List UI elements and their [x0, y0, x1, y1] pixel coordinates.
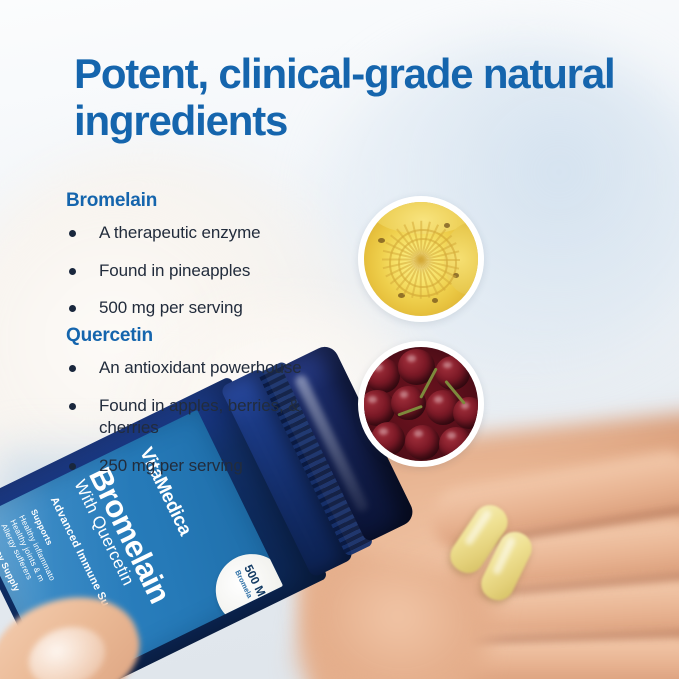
pineapple-eye — [432, 298, 438, 303]
list-item-label: 500 mg per serving — [99, 298, 243, 317]
page-title: Potent, clinical-grade natural ingredien… — [74, 50, 634, 144]
cherry-photo-circle — [358, 341, 484, 467]
cherry-fruit — [453, 397, 484, 429]
cherry-fruit — [435, 356, 470, 390]
pineapple-spoke — [420, 260, 422, 299]
cherry-fruit — [405, 425, 440, 460]
list-item-label: Found in pineapples — [99, 261, 250, 280]
section-title-quercetin: Quercetin — [66, 325, 153, 347]
list-item-label: A therapeutic enzyme — [99, 223, 260, 242]
list-item: Found in apples, berries, & cherries — [66, 395, 314, 440]
pineapple-image — [364, 202, 478, 316]
quercetin-benefit-list: An antioxidant powerhouse Found in apple… — [66, 357, 314, 492]
bullet-dot-icon — [69, 463, 76, 470]
cherry-fruit — [371, 422, 405, 456]
bromelain-benefit-list: A therapeutic enzyme Found in pineapples… — [66, 222, 260, 335]
list-item: An antioxidant powerhouse — [66, 357, 314, 380]
list-item: Found in pineapples — [66, 260, 260, 283]
cherry-fruit — [359, 390, 394, 425]
list-item-label: 250 mg per serving — [99, 456, 243, 475]
bullet-dot-icon — [69, 305, 76, 312]
product-infographic: VitaMedica Bromelain With Quercetin Adva… — [0, 0, 679, 679]
section-title-bromelain: Bromelain — [66, 190, 157, 212]
bullet-dot-icon — [69, 268, 76, 275]
cherry-fruit — [391, 386, 425, 420]
list-item: A therapeutic enzyme — [66, 222, 260, 245]
list-item: 500 mg per serving — [66, 297, 260, 320]
bullet-dot-icon — [69, 365, 76, 372]
pineapple-eye — [378, 238, 385, 243]
list-item-label: Found in apples, berries, & cherries — [99, 396, 299, 438]
cherry-fruit — [439, 427, 473, 461]
list-item: 250 mg per serving — [66, 455, 314, 478]
cherry-image — [364, 347, 478, 461]
bullet-dot-icon — [69, 230, 76, 237]
bullet-dot-icon — [69, 403, 76, 410]
pineapple-eye — [444, 223, 450, 228]
pineapple-photo-circle — [358, 196, 484, 322]
list-item-label: An antioxidant powerhouse — [99, 358, 302, 377]
cherry-fruit — [366, 358, 400, 392]
